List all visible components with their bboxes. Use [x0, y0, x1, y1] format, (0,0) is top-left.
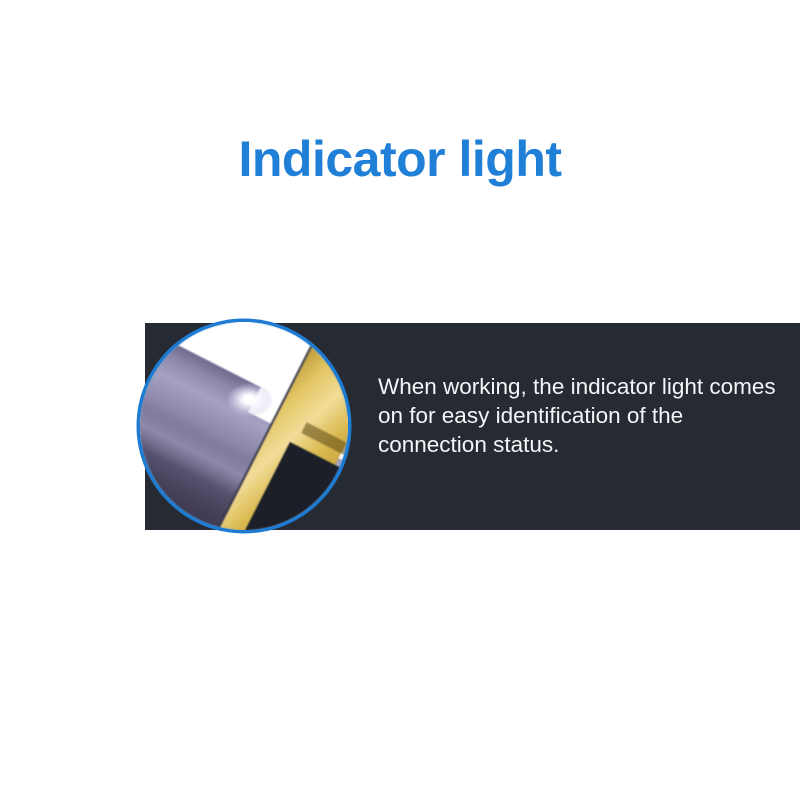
product-photo: 8K 60Hz — [140, 322, 348, 530]
product-photo-circle: 8K 60Hz — [140, 322, 348, 530]
product-feature-page: Indicator light When working, the indica… — [0, 0, 800, 800]
page-title: Indicator light — [0, 133, 800, 186]
feature-description: When working, the indicator light comes … — [378, 372, 778, 459]
indicator-led-icon — [228, 384, 272, 416]
